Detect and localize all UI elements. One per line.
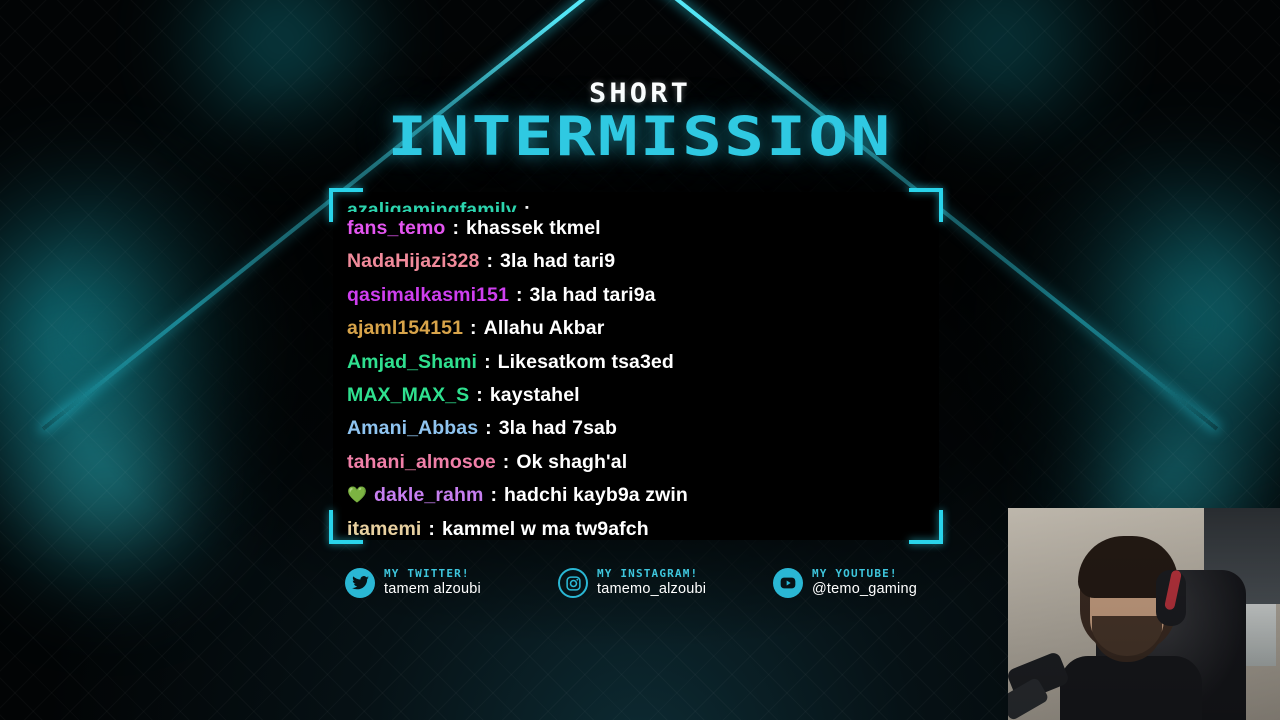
chat-message: MAX_MAX_S:kaystahel xyxy=(347,379,925,412)
chat-message-text: Likesatkom tsa3ed xyxy=(498,346,674,379)
chat-message: tahani_almosoe:Ok shagh'al xyxy=(347,446,925,479)
chat-username[interactable]: MAX_MAX_S xyxy=(347,379,469,412)
chat-username[interactable]: Amani_Abbas xyxy=(347,412,478,445)
chat-message: azaligamingfamily: xyxy=(347,198,925,212)
corner-bracket-top-right xyxy=(909,188,943,222)
chat-message: Amjad_Shami:Likesatkom tsa3ed xyxy=(347,346,925,379)
social-links-bar: MY TWITTER! tamem alzoubi MY INSTAGRAM! … xyxy=(333,556,953,610)
chat-username[interactable]: tahani_almosoe xyxy=(347,446,496,479)
chat-message: Amani_Abbas:3la had 7sab xyxy=(347,412,925,445)
chat-message-text: kaystahel xyxy=(490,379,580,412)
chat-message-text: 3la had tari9a xyxy=(530,279,656,312)
social-link-twitter[interactable]: MY TWITTER! tamem alzoubi xyxy=(345,568,481,598)
chat-username[interactable]: dakle_rahm xyxy=(374,479,483,512)
chat-message-text: 3la had tari9 xyxy=(500,245,615,278)
twitter-label: MY TWITTER! xyxy=(384,569,486,580)
chat-message: fans_temo:khassek tkmel xyxy=(347,212,925,245)
webcam-feed[interactable] xyxy=(1008,508,1280,720)
chat-message: NadaHijazi328:3la had tari9 xyxy=(347,245,925,278)
chat-username[interactable]: qasimalkasmi151 xyxy=(347,279,509,312)
youtube-handle: @temo_gaming xyxy=(812,582,917,597)
instagram-icon xyxy=(558,568,588,598)
chat-separator: : xyxy=(524,198,531,212)
corner-bracket-bottom-right xyxy=(909,510,943,544)
chat-message-text: hadchi kayb9a zwin xyxy=(504,479,688,512)
chat-username[interactable]: ajaml154151 xyxy=(347,312,463,345)
chat-message-text: Ok shagh'al xyxy=(516,446,627,479)
chat-separator: : xyxy=(476,379,483,412)
chat-username[interactable]: NadaHijazi328 xyxy=(347,245,479,278)
twitter-icon xyxy=(345,568,375,598)
twitter-handle: tamem alzoubi xyxy=(384,582,481,597)
chat-message-text: kammel w ma tw9afch xyxy=(442,513,649,540)
instagram-handle: tamemo_alzoubi xyxy=(597,582,706,597)
chat-separator: : xyxy=(484,346,491,379)
title-main: INTERMISSION xyxy=(0,105,1280,168)
chat-message: 💚dakle_rahm:hadchi kayb9a zwin xyxy=(347,479,925,512)
chat-message: ajaml154151:Allahu Akbar xyxy=(347,312,925,345)
corner-bracket-bottom-left xyxy=(329,510,363,544)
page-title: SHORT INTERMISSION xyxy=(0,78,1280,172)
chat-separator: : xyxy=(428,513,435,540)
chat-badge-icon: 💚 xyxy=(347,488,367,504)
chat-message-text: Allahu Akbar xyxy=(484,312,605,345)
webcam-shading xyxy=(1008,508,1280,720)
chat-username[interactable]: azaligamingfamily xyxy=(347,198,517,212)
chat-separator: : xyxy=(516,279,523,312)
chat-message-list[interactable]: azaligamingfamily:fans_temo:khassek tkme… xyxy=(333,192,939,540)
chat-separator: : xyxy=(503,446,510,479)
chat-separator: : xyxy=(486,245,493,278)
youtube-label: MY YOUTUBE! xyxy=(812,569,922,580)
social-link-instagram[interactable]: MY INSTAGRAM! tamemo_alzoubi xyxy=(558,568,706,598)
chat-separator: : xyxy=(452,212,459,245)
instagram-label: MY INSTAGRAM! xyxy=(597,569,712,580)
corner-bracket-top-left xyxy=(329,188,363,222)
youtube-text-group: MY YOUTUBE! @temo_gaming xyxy=(812,569,917,597)
chat-panel: azaligamingfamily:fans_temo:khassek tkme… xyxy=(333,192,939,540)
chat-message-text: 3la had 7sab xyxy=(499,412,617,445)
stream-overlay-stage: SHORT INTERMISSION azaligamingfamily:fan… xyxy=(0,0,1280,720)
chat-username[interactable]: Amjad_Shami xyxy=(347,346,477,379)
chat-message-text: khassek tkmel xyxy=(466,212,601,245)
chat-separator: : xyxy=(470,312,477,345)
instagram-text-group: MY INSTAGRAM! tamemo_alzoubi xyxy=(597,569,706,597)
chat-message: itamemi:kammel w ma tw9afch xyxy=(347,513,925,540)
social-link-youtube[interactable]: MY YOUTUBE! @temo_gaming xyxy=(773,568,917,598)
chat-separator: : xyxy=(490,479,497,512)
chat-separator: : xyxy=(485,412,492,445)
chat-message: qasimalkasmi151:3la had tari9a xyxy=(347,279,925,312)
twitter-text-group: MY TWITTER! tamem alzoubi xyxy=(384,569,481,597)
youtube-icon xyxy=(773,568,803,598)
